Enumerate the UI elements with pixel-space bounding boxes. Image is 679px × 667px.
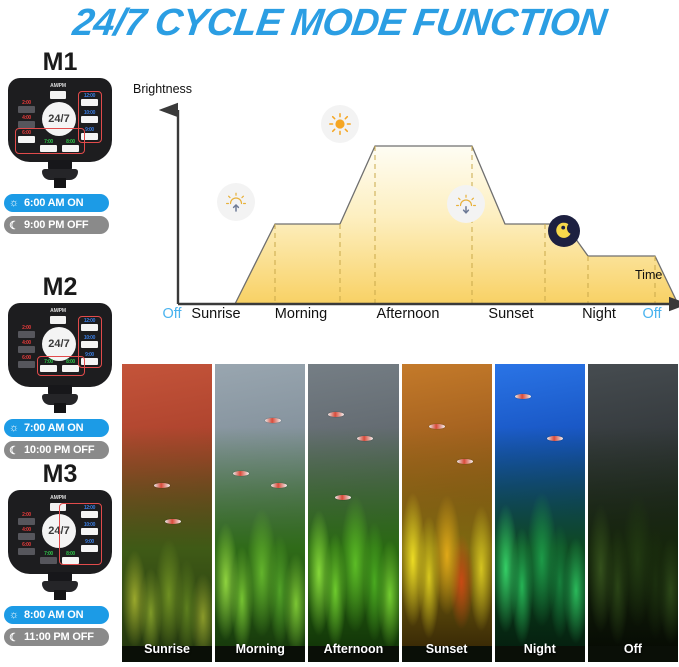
x-tick-afternoon: Afternoon	[353, 306, 463, 322]
timer-button-left-1[interactable]: 2:00	[18, 100, 35, 113]
timer-button-bottom-1[interactable]: 7:00	[40, 139, 57, 152]
panel-caption: Sunset	[402, 638, 492, 660]
timer-button-right-3[interactable]: 9:00	[81, 539, 98, 552]
timer-button-left-2[interactable]: 4:00	[18, 527, 35, 540]
off-time-badge: ☾ 11:00 PM OFF	[4, 628, 109, 646]
timer-switch[interactable]	[18, 136, 35, 143]
off-time-badge: ☾ 10:00 PM OFF	[4, 441, 109, 459]
timer-switch[interactable]	[81, 545, 98, 552]
photo-panel-night: Night	[495, 364, 585, 662]
fish	[357, 436, 373, 441]
photo-panel-morning: Morning	[215, 364, 305, 662]
panel-plants	[122, 427, 212, 648]
timer-button-left-2[interactable]: 4:00	[18, 115, 35, 128]
panel-plants	[402, 427, 492, 648]
ampm-button[interactable]	[50, 316, 66, 324]
timer-switch[interactable]	[18, 361, 35, 368]
sun-icon	[328, 112, 352, 136]
panel-plants	[495, 427, 585, 648]
timer-switch[interactable]	[18, 548, 35, 555]
off-time-label: 11:00 PM OFF	[24, 631, 109, 643]
sunrise-icon-bubble	[217, 183, 255, 221]
ampm-button[interactable]	[50, 91, 66, 99]
timer-button-right-2[interactable]: 10:00	[81, 335, 98, 348]
on-time-badge: ☼ 8:00 AM ON	[4, 606, 109, 624]
timer-button-bottom-2[interactable]: 8:00	[62, 359, 79, 372]
timer-switch[interactable]	[40, 557, 57, 564]
timer-switch[interactable]	[81, 341, 98, 348]
controller-illustration: AM/PM 24/7 2:00 4:00 6:00 12:00 10:00 9:…	[4, 490, 116, 602]
timer-button-right-1[interactable]: 12:00	[81, 318, 98, 331]
ampm-label: AM/PM	[44, 83, 72, 89]
fish	[547, 436, 563, 441]
sun-icon: ☼	[4, 609, 24, 621]
timer-button-left-1[interactable]: 2:00	[18, 512, 35, 525]
page-title: 24/7 CYCLE MODE FUNCTION	[0, 2, 679, 45]
on-time-label: 7:00 AM ON	[24, 422, 109, 434]
sunset-icon-bubble	[447, 185, 485, 223]
mode-dial-247[interactable]: 24/7	[42, 327, 76, 361]
mode-module-m3: M3 AM/PM 24/7 2:00 4:00 6:00 12:00 10:00	[0, 462, 120, 646]
timer-switch[interactable]	[62, 365, 79, 372]
photo-panel-off: Off	[588, 364, 678, 662]
timer-button-left-3[interactable]: 6:00	[18, 355, 35, 368]
module-title: M3	[4, 462, 116, 487]
controller-cord	[54, 178, 66, 188]
timer-button-left-3[interactable]: 6:00	[18, 130, 35, 143]
timer-button-right-2[interactable]: 10:00	[81, 110, 98, 123]
x-axis-label: Time	[635, 268, 662, 282]
moon-icon: ☾	[4, 444, 24, 457]
mode-dial-247[interactable]: 24/7	[42, 514, 76, 548]
timer-button-bottom-2[interactable]: 8:00	[62, 139, 79, 152]
sun-icon: ☼	[4, 422, 24, 434]
on-time-label: 8:00 AM ON	[24, 609, 109, 621]
fish	[328, 412, 344, 417]
ampm-label: AM/PM	[44, 308, 72, 314]
timer-button-bottom-1[interactable]: 7:00	[40, 551, 57, 564]
timer-switch[interactable]	[81, 324, 98, 331]
brightness-cycle-chart: Brightness Time	[125, 78, 679, 336]
panel-caption: Off	[588, 638, 678, 660]
timer-button-right-3[interactable]: 9:00	[81, 127, 98, 140]
x-tick-sunset: Sunset	[466, 306, 556, 322]
fish	[265, 418, 281, 423]
timer-switch[interactable]	[81, 511, 98, 518]
module-title: M1	[4, 50, 116, 75]
panel-caption: Afternoon	[308, 638, 398, 660]
controller-cord	[54, 403, 66, 413]
photo-panel-sunset: Sunset	[402, 364, 492, 662]
fish	[429, 424, 445, 429]
timer-button-right-3[interactable]: 9:00	[81, 352, 98, 365]
timer-switch[interactable]	[40, 145, 57, 152]
timer-button-left-2[interactable]: 4:00	[18, 340, 35, 353]
x-tick-sunrise: Sunrise	[173, 306, 259, 322]
panel-plants	[215, 427, 305, 648]
mode-module-m1: M1 AM/PM 24/7 2:00 4:00 6:00 12:00 10:00	[0, 50, 120, 234]
timer-switch[interactable]	[18, 518, 35, 525]
sunset-icon	[454, 192, 478, 216]
timer-button-bottom-1[interactable]: 7:00	[40, 359, 57, 372]
module-title: M2	[4, 275, 116, 300]
timer-switch[interactable]	[18, 331, 35, 338]
timer-switch[interactable]	[81, 116, 98, 123]
timer-switch[interactable]	[62, 557, 79, 564]
y-axis-label: Brightness	[133, 82, 192, 96]
moon-icon: ☾	[4, 219, 24, 232]
controller-illustration: AM/PM 24/7 2:00 4:00 6:00 12:00 10:00 9:…	[4, 303, 116, 415]
timer-button-left-3[interactable]: 6:00	[18, 542, 35, 555]
panel-plants	[588, 427, 678, 648]
moon-icon-bubble	[548, 215, 580, 247]
x-tick-off-end: Off	[625, 306, 679, 322]
panel-caption: Sunrise	[122, 638, 212, 660]
sun-icon: ☼	[4, 197, 24, 209]
timer-button-right-1[interactable]: 12:00	[81, 505, 98, 518]
aquarium-photo-strip: Sunrise Morning Afternoon Sunset Night	[122, 364, 678, 662]
timer-switch[interactable]	[62, 145, 79, 152]
off-time-label: 9:00 PM OFF	[24, 219, 109, 231]
photo-panel-sunrise: Sunrise	[122, 364, 212, 662]
timer-button-bottom-2[interactable]: 8:00	[62, 551, 79, 564]
controller-cord	[54, 590, 66, 600]
on-time-badge: ☼ 7:00 AM ON	[4, 419, 109, 437]
brightness-area	[198, 146, 678, 304]
on-time-label: 6:00 AM ON	[24, 197, 109, 209]
chart-svg	[125, 78, 679, 336]
on-time-badge: ☼ 6:00 AM ON	[4, 194, 109, 212]
controller-illustration: AM/PM 24/7 2:00 4:00 6:00 12:00 10:00 9:…	[4, 78, 116, 190]
x-tick-morning: Morning	[256, 306, 346, 322]
timer-switch[interactable]	[81, 528, 98, 535]
timer-switch[interactable]	[81, 358, 98, 365]
off-time-badge: ☾ 9:00 PM OFF	[4, 216, 109, 234]
panel-plants	[308, 427, 398, 648]
panel-caption: Night	[495, 638, 585, 660]
timer-switch[interactable]	[18, 106, 35, 113]
sunrise-icon	[224, 190, 248, 214]
moon-icon	[554, 221, 574, 241]
timer-button-right-2[interactable]: 10:00	[81, 522, 98, 535]
ampm-label: AM/PM	[44, 495, 72, 501]
ampm-button[interactable]	[50, 503, 66, 511]
timer-switch[interactable]	[18, 121, 35, 128]
photo-panel-afternoon: Afternoon	[308, 364, 398, 662]
timer-button-right-1[interactable]: 12:00	[81, 93, 98, 106]
timer-switch[interactable]	[18, 346, 35, 353]
panel-caption: Morning	[215, 638, 305, 660]
sun-icon-bubble	[321, 105, 359, 143]
timer-switch[interactable]	[18, 533, 35, 540]
timer-switch[interactable]	[81, 99, 98, 106]
mode-dial-247[interactable]: 24/7	[42, 102, 76, 136]
fish	[515, 394, 531, 399]
mode-module-m2: M2 AM/PM 24/7 2:00 4:00 6:00 12:00 10:00	[0, 275, 120, 459]
timer-switch[interactable]	[40, 365, 57, 372]
moon-icon: ☾	[4, 631, 24, 644]
off-time-label: 10:00 PM OFF	[24, 444, 109, 456]
timer-button-left-1[interactable]: 2:00	[18, 325, 35, 338]
timer-switch[interactable]	[81, 133, 98, 140]
